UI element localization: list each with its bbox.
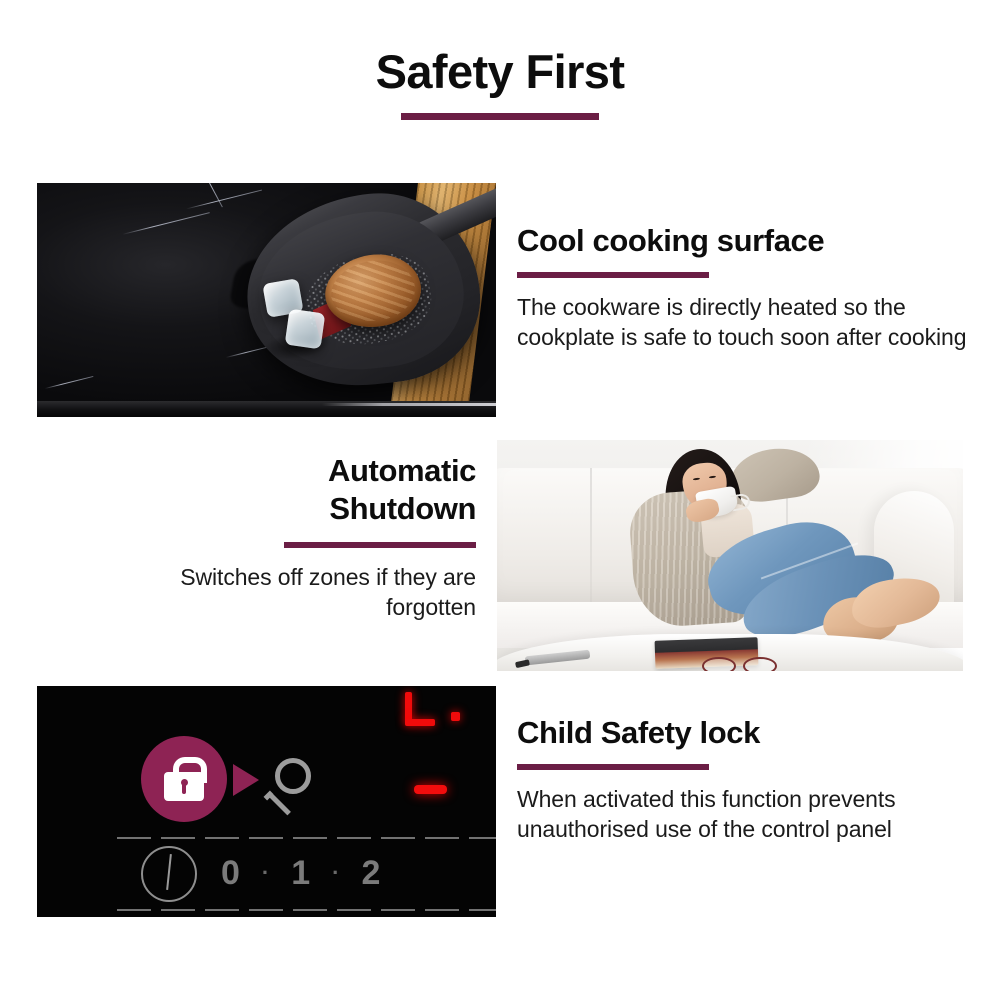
page-title: Safety First: [0, 44, 1000, 100]
feature-underline: [517, 272, 709, 278]
padlock-icon: [164, 757, 204, 801]
power-level-2[interactable]: 2: [362, 854, 381, 893]
feature-heading-line2: Shutdown: [178, 490, 476, 528]
image-automatic-shutdown: [497, 440, 963, 671]
power-level-1[interactable]: 1: [291, 854, 310, 893]
feature-text-automatic-shutdown: Automatic Shutdown Switches off zones if…: [178, 452, 476, 622]
feature-body: When activated this function prevents un…: [517, 784, 983, 844]
led-display-digit: [405, 692, 443, 726]
led-display-dot: [451, 712, 460, 721]
level-separator-dot: ·: [262, 860, 269, 886]
level-separator-dot: ·: [332, 860, 339, 886]
eyeglass-lens: [743, 657, 777, 671]
led-display-dash: [414, 785, 447, 794]
power-icon[interactable]: [141, 846, 197, 902]
padlock-keyhole: [181, 779, 188, 786]
touch-control-slider[interactable]: 0 · 1 · 2: [117, 837, 496, 911]
feature-heading: Cool cooking surface: [517, 222, 983, 260]
sofa-seam: [590, 468, 592, 611]
power-level-0[interactable]: 0: [221, 854, 240, 893]
feature-text-cool-cooking-surface: Cool cooking surface The cookware is dir…: [517, 222, 983, 352]
page-header: Safety First: [0, 44, 1000, 120]
ice-cube: [285, 309, 326, 350]
feature-heading: Child Safety lock: [517, 714, 983, 752]
feature-body: Switches off zones if they are forgotten: [178, 562, 476, 622]
feature-underline: [517, 764, 709, 770]
image-cool-cooking-surface: [37, 183, 496, 417]
slider-tick-row-bottom: [117, 909, 496, 911]
eyeglass-lens: [702, 657, 736, 671]
feature-heading-line1: Automatic: [178, 452, 476, 490]
feature-body: The cookware is directly heated so the c…: [517, 292, 983, 352]
cooktop-front-edge: [37, 401, 496, 417]
key-ring: [275, 758, 311, 794]
power-level-marks[interactable]: 0 · 1 · 2: [221, 845, 496, 901]
eyeglasses: [702, 657, 777, 671]
padlock-body: [164, 772, 204, 801]
image-child-safety-lock: 0 · 1 · 2: [37, 686, 496, 917]
feature-underline: [284, 542, 476, 548]
triangle-right-icon: [233, 764, 259, 796]
lock-badge: [141, 736, 227, 822]
feature-text-child-safety-lock: Child Safety lock When activated this fu…: [517, 714, 983, 844]
title-underline: [401, 113, 599, 120]
key-icon: [265, 758, 311, 800]
slider-tick-row-top: [117, 837, 496, 839]
